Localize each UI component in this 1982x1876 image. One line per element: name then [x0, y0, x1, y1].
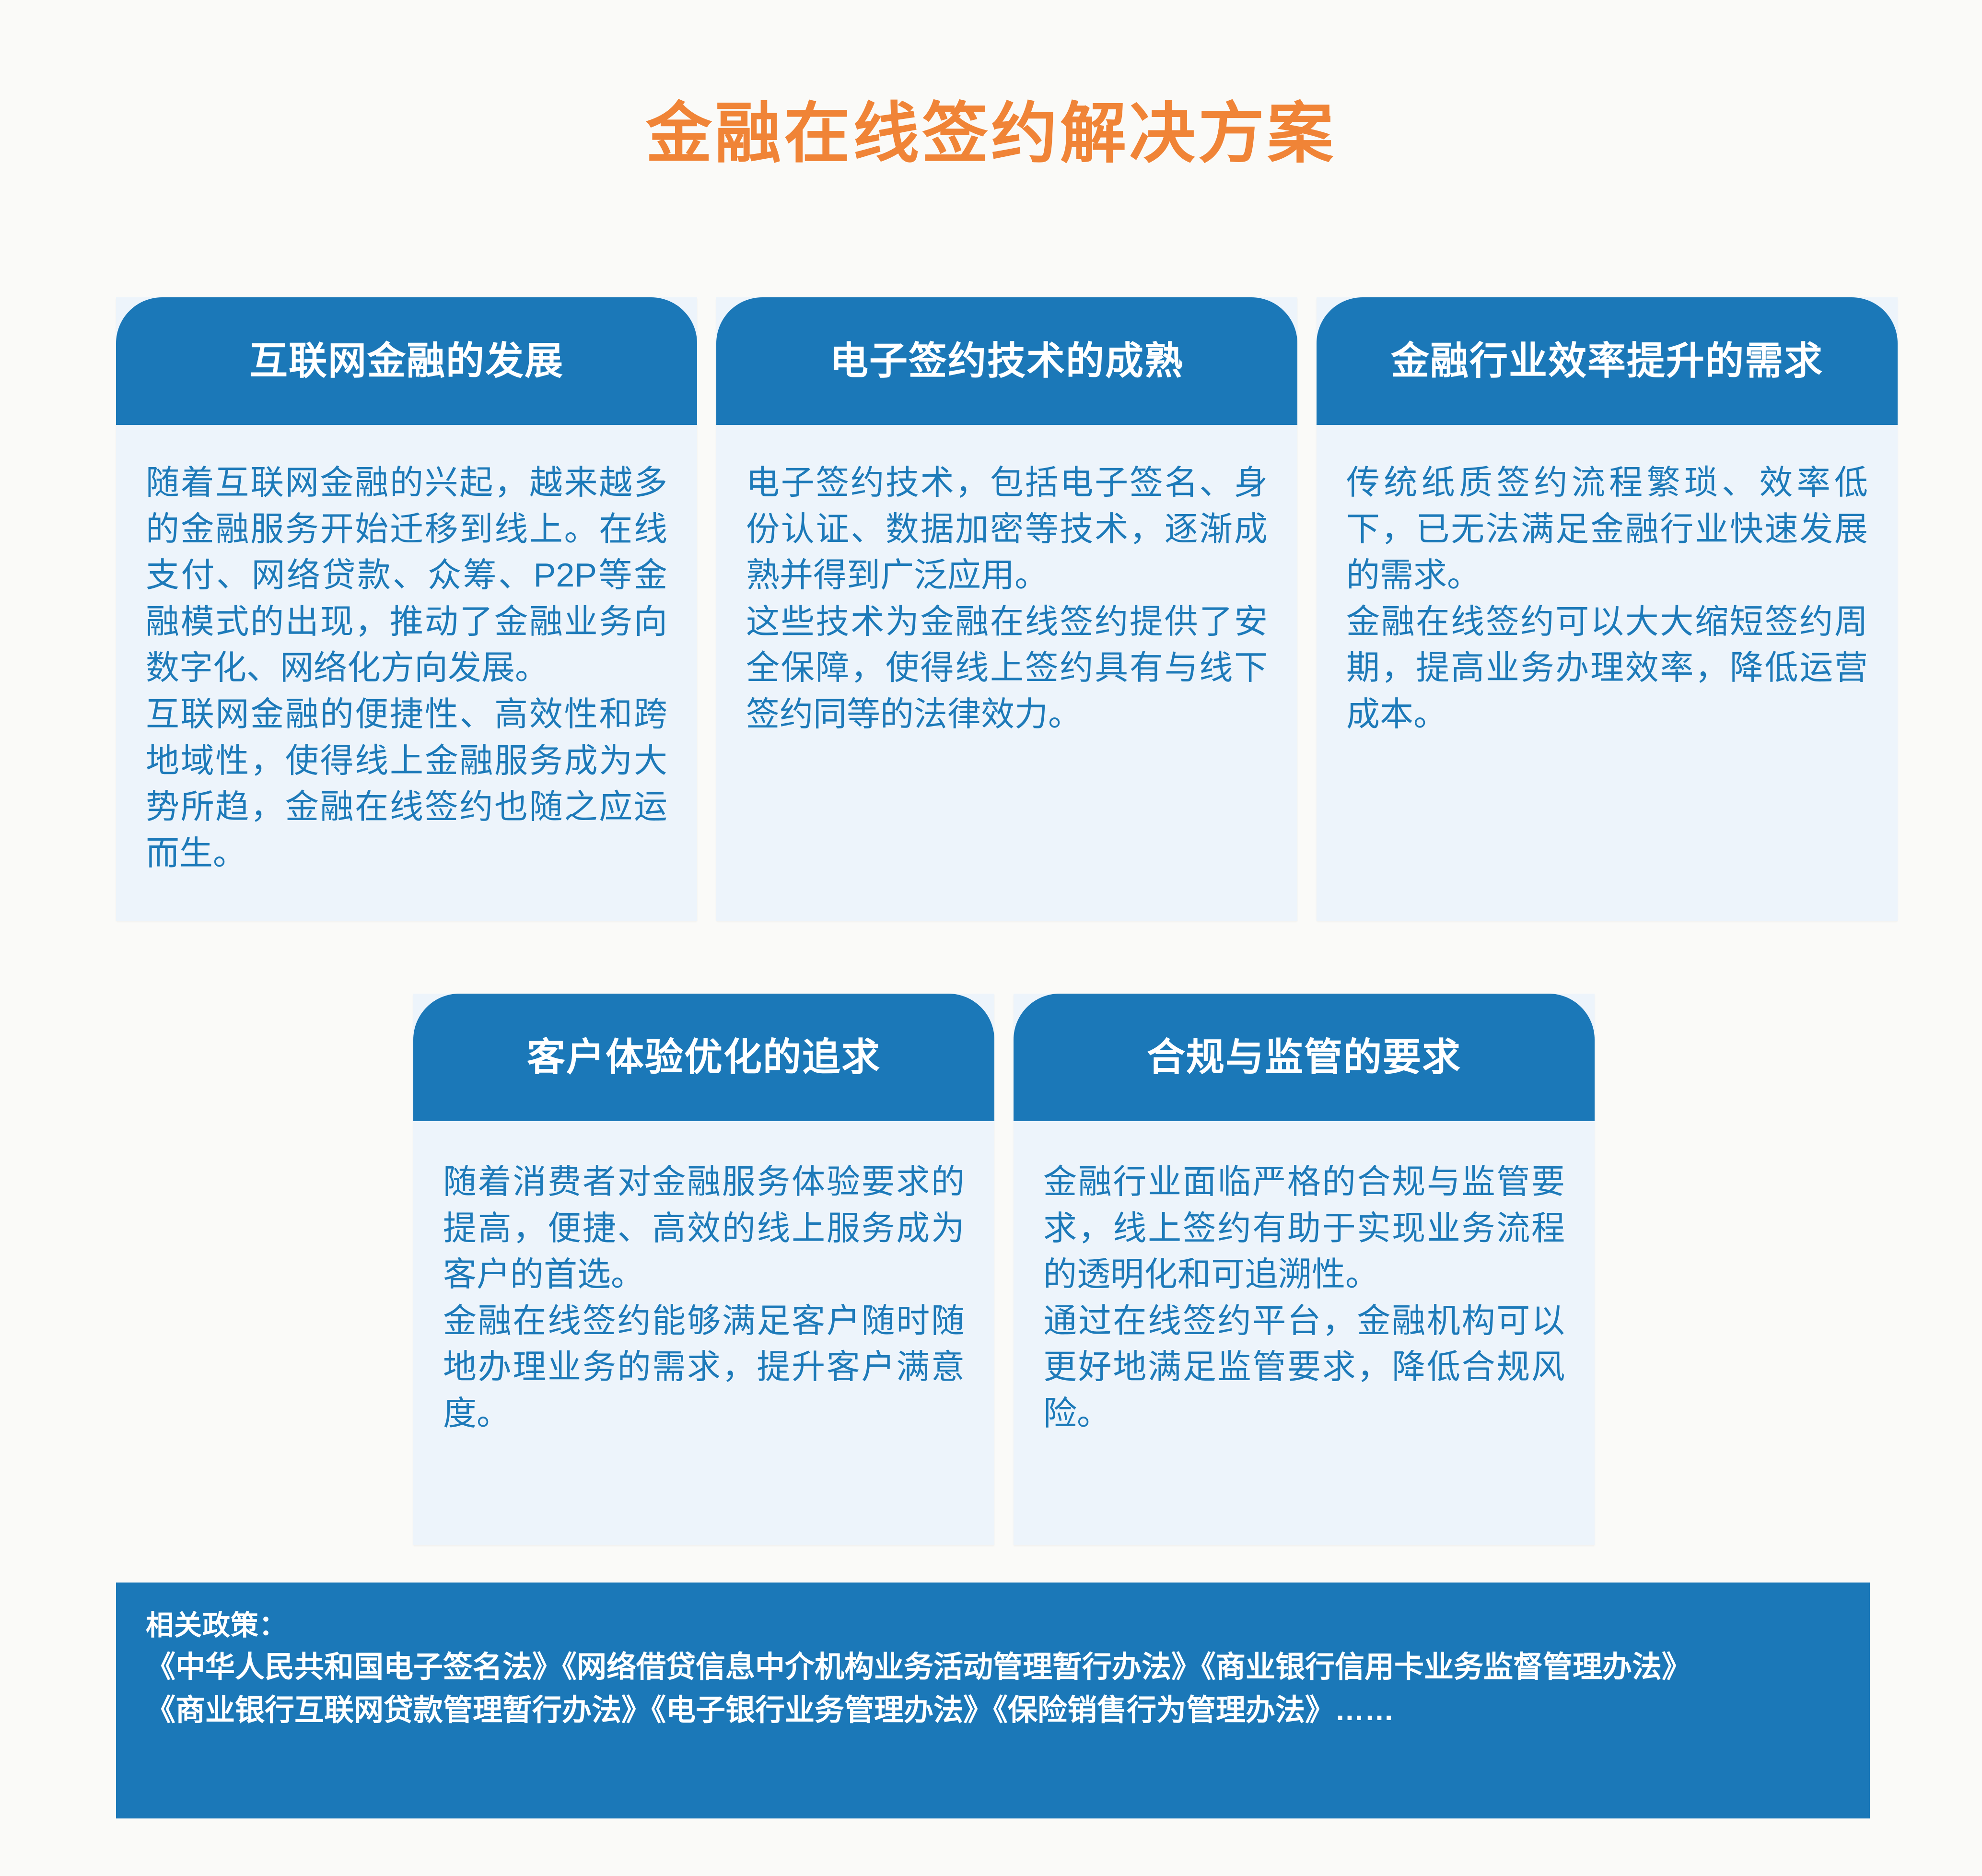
- card-title: 金融行业效率提升的需求: [1391, 342, 1823, 380]
- card-paragraph: 电子签约技术，包括电子签名、身份认证、数据加密等技术，逐渐成熟并得到广泛应用。: [746, 459, 1268, 598]
- page-title: 金融在线签约解决方案: [0, 101, 1982, 167]
- card-paragraph: 金融在线签约能够满足客户随时随地办理业务的需求，提升客户满意度。: [443, 1298, 965, 1437]
- card-customer-experience: 客户体验优化的追求 随着消费者对金融服务体验要求的提高，便捷、高效的线上服务成为…: [413, 994, 994, 1545]
- card-header: 金融行业效率提升的需求: [1317, 297, 1898, 425]
- related-policies-banner: 相关政策： 《中华人民共和国电子签名法》《网络借贷信息中介机构业务活动管理暂行办…: [116, 1583, 1870, 1818]
- card-body: 电子签约技术，包括电子签名、身份认证、数据加密等技术，逐渐成熟并得到广泛应用。 …: [716, 425, 1297, 921]
- policy-list-line: 《商业银行互联网贷款管理暂行办法》《电子银行业务管理办法》《保险销售行为管理办法…: [146, 1689, 1840, 1732]
- card-efficiency-demand: 金融行业效率提升的需求 传统纸质签约流程繁琐、效率低下，已无法满足金融行业快速发…: [1317, 297, 1898, 921]
- card-header: 电子签约技术的成熟: [716, 297, 1297, 425]
- policy-list-line: 《中华人民共和国电子签名法》《网络借贷信息中介机构业务活动管理暂行办法》《商业银…: [146, 1646, 1840, 1689]
- card-paragraph: 随着互联网金融的兴起，越来越多的金融服务开始迁移到线上。在线支付、网络贷款、众筹…: [146, 459, 667, 691]
- card-body: 传统纸质签约流程繁琐、效率低下，已无法满足金融行业快速发展的需求。 金融在线签约…: [1317, 425, 1898, 921]
- card-title: 客户体验优化的追求: [527, 1038, 881, 1077]
- card-body: 金融行业面临严格的合规与监管要求，线上签约有助于实现业务流程的透明化和可追溯性。…: [1014, 1121, 1595, 1545]
- card-title: 电子签约技术的成熟: [830, 342, 1184, 380]
- card-paragraph: 互联网金融的便捷性、高效性和跨地域性，使得线上金融服务成为大势所趋，金融在线签约…: [146, 691, 667, 876]
- card-paragraph: 金融在线签约可以大大缩短签约周期，提高业务办理效率，降低运营成本。: [1346, 598, 1868, 738]
- card-header: 客户体验优化的追求: [413, 994, 994, 1121]
- card-paragraph: 随着消费者对金融服务体验要求的提高，便捷、高效的线上服务成为客户的首选。: [443, 1159, 965, 1298]
- card-title: 互联网金融的发展: [249, 342, 564, 380]
- related-policies-label: 相关政策：: [146, 1606, 1840, 1646]
- card-paragraph: 通过在线签约平台，金融机构可以更好地满足监管要求，降低合规风险。: [1043, 1298, 1565, 1437]
- card-esign-technology-maturity: 电子签约技术的成熟 电子签约技术，包括电子签名、身份认证、数据加密等技术，逐渐成…: [716, 297, 1297, 921]
- card-row-top: 互联网金融的发展 随着互联网金融的兴起，越来越多的金融服务开始迁移到线上。在线支…: [116, 297, 1898, 921]
- card-paragraph: 这些技术为金融在线签约提供了安全保障，使得线上签约具有与线下签约同等的法律效力。: [746, 598, 1268, 738]
- card-paragraph: 传统纸质签约流程繁琐、效率低下，已无法满足金融行业快速发展的需求。: [1346, 459, 1868, 598]
- card-internet-finance-development: 互联网金融的发展 随着互联网金融的兴起，越来越多的金融服务开始迁移到线上。在线支…: [116, 297, 697, 921]
- card-compliance-regulation: 合规与监管的要求 金融行业面临严格的合规与监管要求，线上签约有助于实现业务流程的…: [1014, 994, 1595, 1545]
- card-row-bottom: 客户体验优化的追求 随着消费者对金融服务体验要求的提高，便捷、高效的线上服务成为…: [413, 994, 1595, 1545]
- card-header: 合规与监管的要求: [1014, 994, 1595, 1121]
- card-paragraph: 金融行业面临严格的合规与监管要求，线上签约有助于实现业务流程的透明化和可追溯性。: [1043, 1159, 1565, 1298]
- card-title: 合规与监管的要求: [1147, 1038, 1461, 1077]
- card-body: 随着消费者对金融服务体验要求的提高，便捷、高效的线上服务成为客户的首选。 金融在…: [413, 1121, 994, 1545]
- card-header: 互联网金融的发展: [116, 297, 697, 425]
- card-body: 随着互联网金融的兴起，越来越多的金融服务开始迁移到线上。在线支付、网络贷款、众筹…: [116, 425, 697, 921]
